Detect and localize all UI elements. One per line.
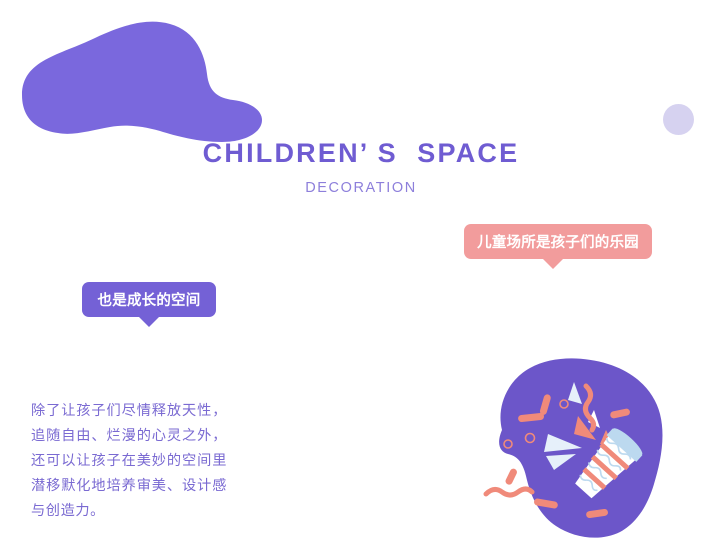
purple-callout-bubble[interactable]: 也是成长的空间	[82, 282, 216, 317]
lavender-dot-decoration	[663, 104, 694, 135]
purple-callout-label: 也是成长的空间	[98, 289, 201, 310]
page-subtitle: DECORATION	[0, 169, 722, 197]
pink-callout-bubble[interactable]: 儿童场所是孩子们的乐园	[464, 224, 652, 259]
slide-canvas: CHILDREN’ S SPACE DECORATION 儿童场所是孩子们的乐园…	[0, 0, 722, 540]
page-title-block: CHILDREN’ S SPACE DECORATION	[0, 138, 722, 197]
top-left-blob-decoration	[0, 0, 270, 145]
body-paragraph: 除了让孩子们尽情释放天性，追随自由、烂漫的心灵之外，还可以让孩子在美妙的空间里潜…	[31, 399, 227, 524]
page-title: CHILDREN’ S SPACE	[0, 138, 722, 169]
pink-callout-label: 儿童场所是孩子们的乐园	[477, 231, 639, 252]
pink-bubble-tail-icon	[542, 258, 564, 269]
purple-bubble-tail-icon	[138, 316, 160, 327]
party-popper-illustration	[478, 352, 688, 540]
